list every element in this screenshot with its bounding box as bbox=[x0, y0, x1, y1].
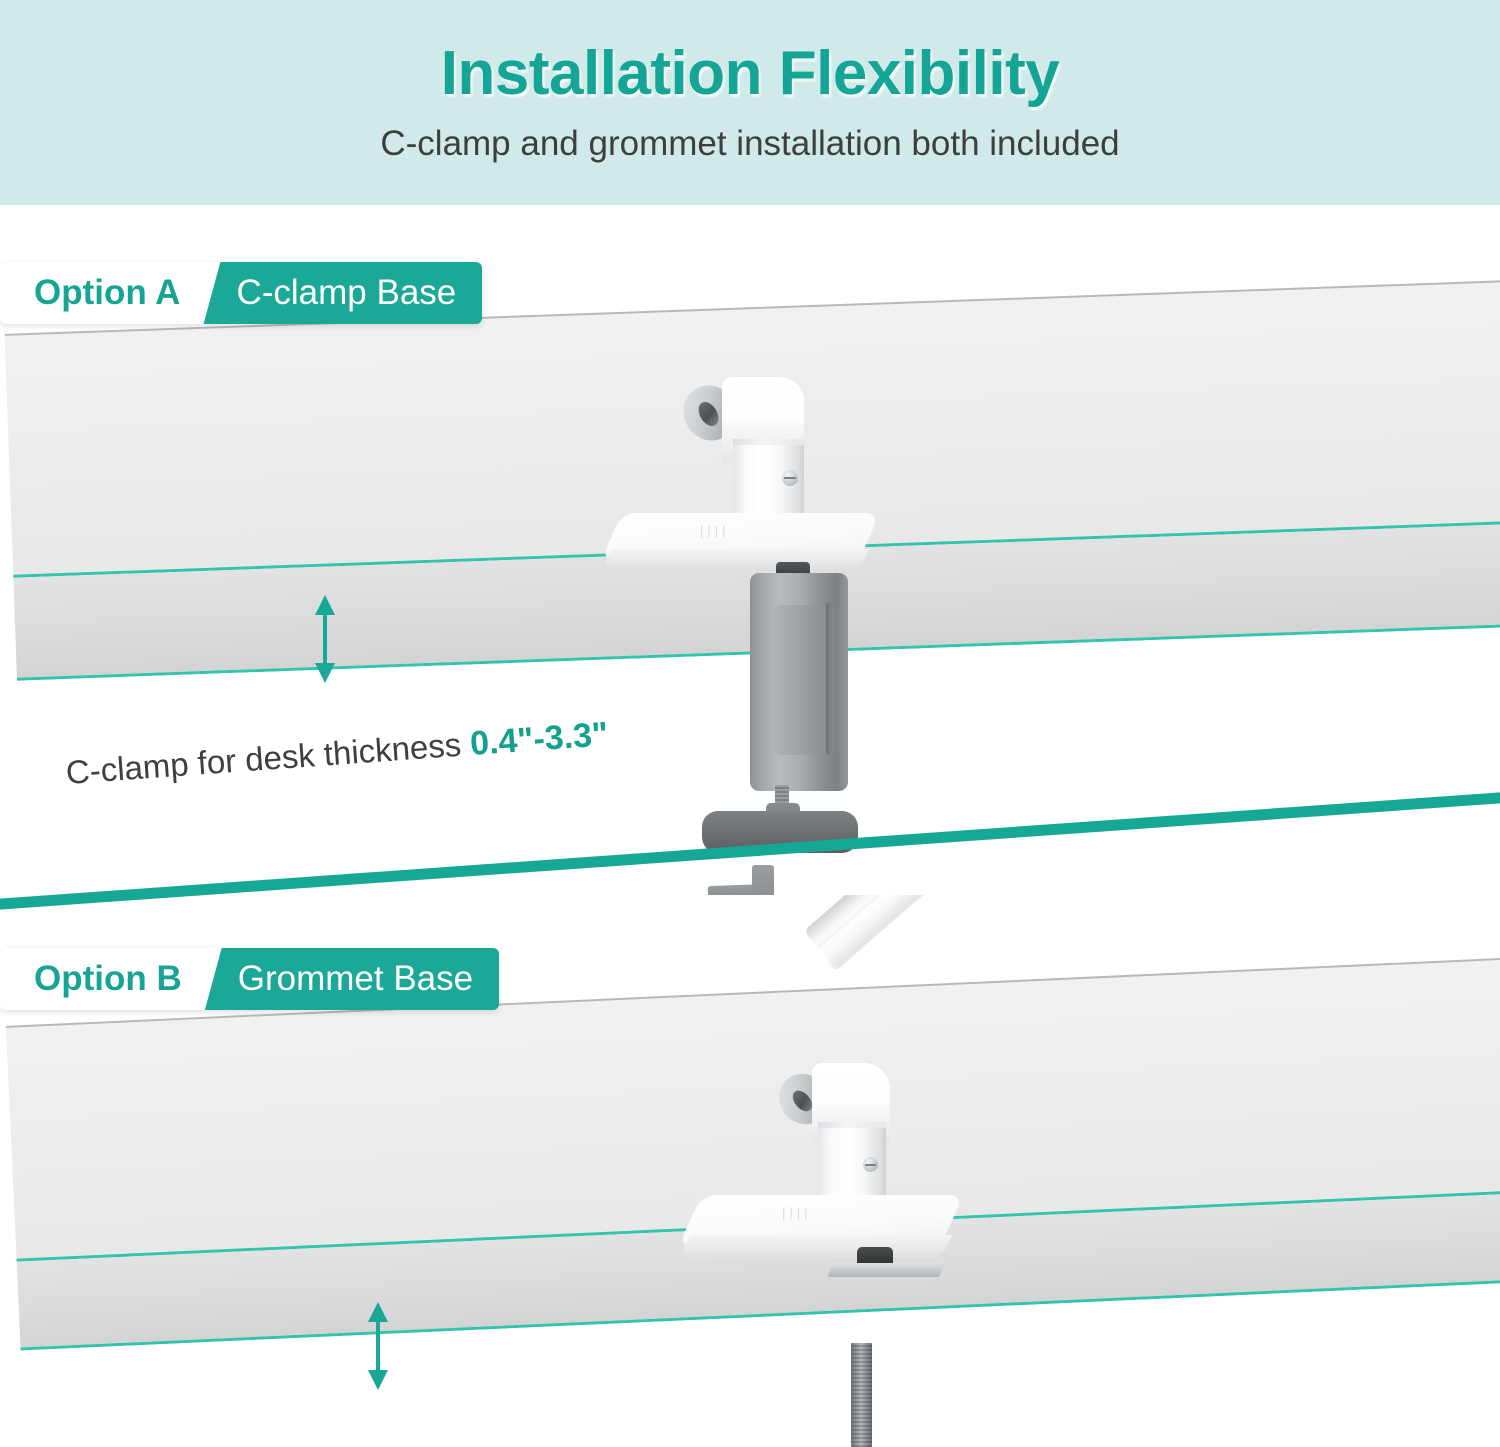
mount-post-ring-b bbox=[818, 1122, 886, 1128]
base-plate-vent-b: |||| bbox=[782, 1205, 812, 1220]
option-b-tag: Option B bbox=[0, 948, 204, 1010]
option-a-tag: Option A bbox=[0, 262, 202, 324]
base-plate-front-a bbox=[601, 549, 869, 571]
grommet-washer-plate bbox=[827, 1263, 945, 1277]
monitor-arm-underside-b bbox=[817, 895, 1216, 972]
post-screw-upper-b bbox=[863, 1157, 878, 1172]
badge-slash-icon-a bbox=[202, 262, 228, 324]
dimension-arrow-icon-a bbox=[307, 593, 343, 685]
mount-post-ring-a bbox=[733, 439, 804, 445]
header-banner: Installation Flexibility C-clamp and gro… bbox=[0, 0, 1500, 205]
option-b-illustration: |||| Grommet for desk thickness 0.4"-3.1… bbox=[0, 895, 1500, 1447]
option-b-badge[interactable]: Option B Grommet Base bbox=[0, 948, 499, 1010]
c-clamp-body-seam bbox=[826, 603, 833, 755]
option-a-illustration: |||| C-clamp for desk thickness 0.4"-3.3… bbox=[0, 205, 1500, 895]
dimension-arrow-icon-b bbox=[360, 1300, 396, 1392]
c-clamp-body-inner bbox=[775, 605, 827, 755]
base-plate-vent-a: |||| bbox=[700, 523, 730, 538]
page-title: Installation Flexibility bbox=[441, 41, 1059, 106]
installation-flexibility-infographic: { "header": { "title": "Installation Fle… bbox=[0, 0, 1500, 1447]
option-b-name: Grommet Base bbox=[230, 948, 499, 1010]
grommet-threaded-bolt bbox=[851, 1343, 872, 1447]
option-a-badge[interactable]: Option A C-clamp Base bbox=[0, 262, 482, 324]
c-clamp-hook-riser bbox=[752, 865, 774, 895]
badge-slash-icon-b bbox=[204, 948, 230, 1010]
option-a-name: C-clamp Base bbox=[228, 262, 482, 324]
base-plate-front-b bbox=[679, 1235, 952, 1259]
post-screw-upper-a bbox=[782, 470, 798, 486]
page-subtitle: C-clamp and grommet installation both in… bbox=[380, 124, 1119, 164]
